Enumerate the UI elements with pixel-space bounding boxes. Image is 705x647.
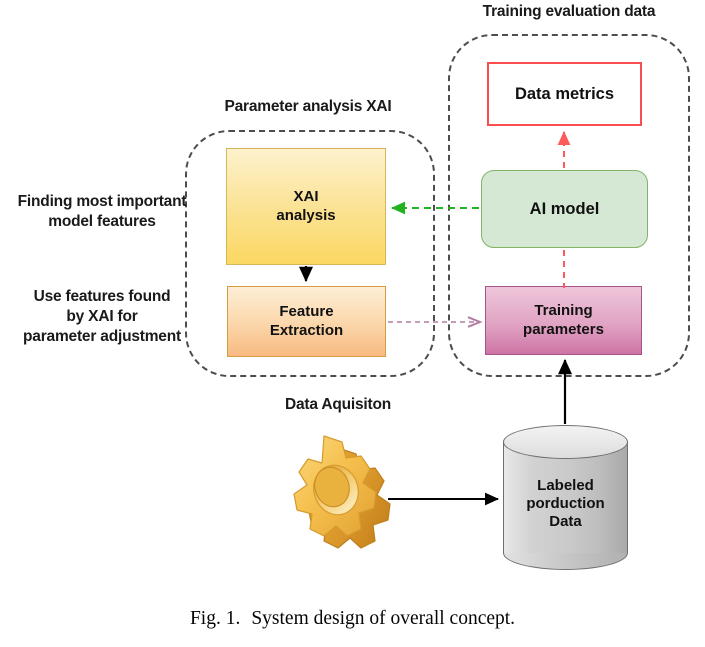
node-labeled-production-data-label: Labeled porduction Data [503, 477, 628, 531]
group-title-data-acquisition: Data Aquisiton [228, 396, 448, 414]
figure-system-design: Parameter analysis XAI Training evaluati… [0, 0, 705, 647]
node-xai-analysis[interactable]: XAI analysis [226, 148, 386, 265]
annotation-finding-features-line1: Finding most important [0, 192, 204, 212]
node-training-parameters[interactable]: Training parameters [485, 286, 642, 355]
cylinder-top [503, 425, 628, 459]
node-labeled-production-data[interactable]: Labeled porduction Data [503, 425, 628, 572]
node-feature-extraction-line2: Extraction [270, 322, 343, 341]
figure-caption-text: System design of overall concept. [251, 608, 515, 629]
node-training-parameters-line2: parameters [523, 321, 604, 340]
node-feature-extraction[interactable]: Feature Extraction [227, 286, 386, 357]
node-data-metrics[interactable]: Data metrics [487, 62, 642, 126]
node-feature-extraction-line1: Feature [270, 303, 343, 322]
node-training-parameters-line1: Training [523, 302, 604, 321]
gear-icon [258, 428, 408, 578]
annotation-use-features-line3: parameter adjustment [0, 327, 204, 347]
group-title-parameter-analysis: Parameter analysis XAI [168, 98, 448, 116]
figure-caption: Fig. 1.System design of overall concept. [0, 608, 705, 630]
annotation-use-features-line2: by XAI for [0, 307, 204, 327]
node-labeled-production-data-line1: Labeled [503, 477, 628, 495]
node-data-metrics-label: Data metrics [515, 84, 614, 105]
annotation-finding-features-line2: model features [0, 212, 204, 232]
group-title-training-evaluation: Training evaluation data [430, 3, 705, 21]
annotation-use-features-line1: Use features found [0, 287, 204, 307]
annotation-finding-features: Finding most important model features [0, 192, 204, 232]
node-ai-model-label: AI model [530, 199, 600, 220]
node-xai-analysis-line1: XAI [276, 188, 335, 207]
annotation-use-features: Use features found by XAI for parameter … [0, 287, 204, 346]
node-labeled-production-data-line2: porduction [503, 495, 628, 513]
node-labeled-production-data-line3: Data [503, 513, 628, 531]
figure-caption-label: Fig. 1. [190, 608, 240, 629]
node-ai-model[interactable]: AI model [481, 170, 648, 248]
node-xai-analysis-line2: analysis [276, 207, 335, 226]
